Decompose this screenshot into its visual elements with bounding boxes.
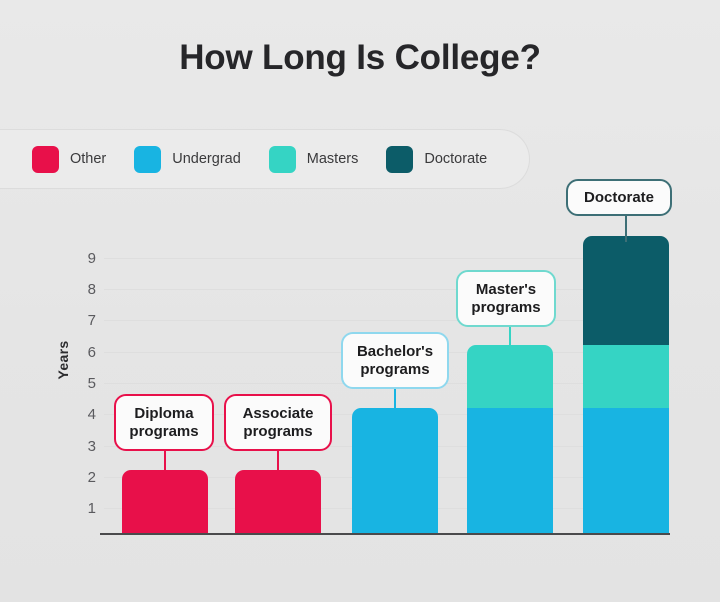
y-axis-title: Years <box>55 325 71 395</box>
bar-segment-masters <box>583 345 669 408</box>
callout-text: Associateprograms <box>243 405 314 440</box>
callout-stem-masters <box>509 327 511 349</box>
callout-stem-associate <box>277 451 279 473</box>
callout-diploma-programs[interactable]: Diplomaprograms <box>114 394 214 451</box>
bar-segment-masters <box>467 345 553 408</box>
bar-segment-other <box>235 470 321 533</box>
bar-doctorate[interactable] <box>583 236 669 533</box>
callout-doctorate[interactable]: Doctorate <box>566 179 672 216</box>
callout-masters-programs[interactable]: Master'sprograms <box>456 270 556 327</box>
y-tick-label-6: 6 <box>70 345 96 360</box>
bar-segment-other <box>122 470 208 533</box>
infographic-canvas: How Long Is College? Other Undergrad Mas… <box>0 0 720 602</box>
callout-text: Master'sprograms <box>471 281 540 316</box>
callout-stem-diploma <box>164 451 166 473</box>
bar-segment-undergrad <box>467 408 553 533</box>
bar-chart-plot: Years 9 8 7 6 5 4 3 2 1 Diplomaprograms <box>0 0 720 602</box>
bar-bachelors-programs[interactable] <box>352 408 438 533</box>
y-tick-label-3: 3 <box>70 439 96 454</box>
callout-text: Diplomaprograms <box>129 405 198 440</box>
bar-diploma-programs[interactable] <box>122 470 208 533</box>
y-tick-label-1: 1 <box>70 501 96 516</box>
y-tick-label-7: 7 <box>70 313 96 328</box>
callout-text: Bachelor'sprograms <box>357 343 433 378</box>
y-tick-label-8: 8 <box>70 282 96 297</box>
callout-stem-bachelors <box>394 388 396 410</box>
callout-bachelors-programs[interactable]: Bachelor'sprograms <box>341 332 449 389</box>
y-tick-label-4: 4 <box>70 407 96 422</box>
bar-masters-programs[interactable] <box>467 345 553 533</box>
callout-text: Doctorate <box>584 189 654 207</box>
bar-associate-programs[interactable] <box>235 470 321 533</box>
callout-associate-programs[interactable]: Associateprograms <box>224 394 332 451</box>
y-tick-label-2: 2 <box>70 470 96 485</box>
bar-segment-doctorate <box>583 236 669 345</box>
bar-segment-undergrad <box>352 408 438 533</box>
y-tick-label-9: 9 <box>70 251 96 266</box>
bar-segment-undergrad <box>583 408 669 533</box>
callout-stem-doctorate <box>625 215 627 242</box>
y-tick-label-5: 5 <box>70 376 96 391</box>
x-axis-line <box>100 533 670 535</box>
